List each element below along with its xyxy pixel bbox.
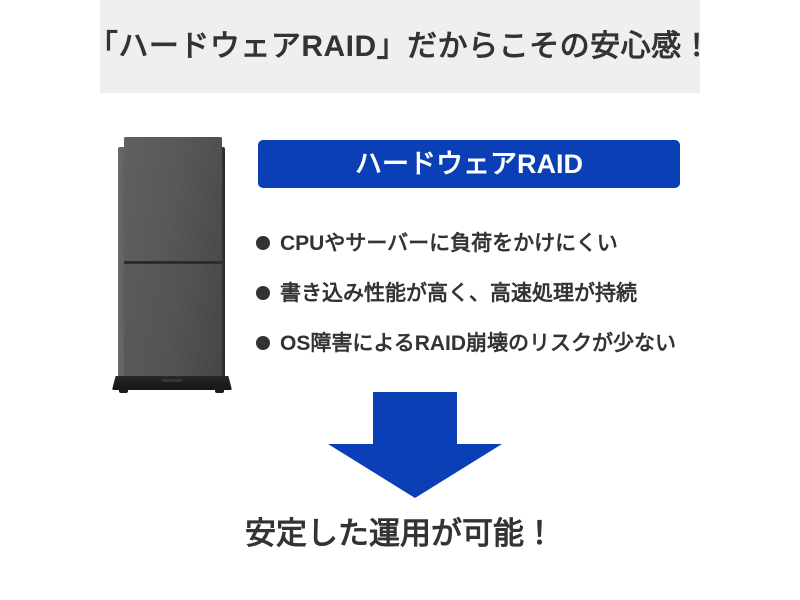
feature-list-item-label: CPUやサーバーに負荷をかけにくい: [280, 233, 618, 254]
tower-body: [124, 137, 222, 381]
hardware-raid-banner-label: ハードウェアRAID: [355, 151, 583, 178]
feature-list-item: CPUやサーバーに負荷をかけにくい: [256, 218, 696, 268]
bullet-dot-icon: [256, 286, 270, 300]
page-title: 「ハードウェアRAID」だからこその安心感！: [88, 32, 712, 62]
poster-root: 「ハードウェアRAID」だからこその安心感！ ハードウェアRAID CPUやサー…: [0, 0, 800, 600]
feature-list-item-label: 書き込み性能が高く、高速処理が持続: [280, 283, 637, 304]
arrow-down-icon: [328, 392, 502, 498]
feature-list-item-label: OS障害によるRAID崩壊のリスクが少ない: [280, 333, 676, 354]
feature-list-item: 書き込み性能が高く、高速処理が持続: [256, 268, 696, 318]
tower-foot-right: [215, 388, 224, 393]
hardware-raid-banner: ハードウェアRAID: [258, 140, 680, 188]
feature-list: CPUやサーバーに負荷をかけにくい 書き込み性能が高く、高速処理が持続 OS障害…: [256, 218, 696, 368]
tower-panel-seam: [124, 261, 222, 263]
conclusion-text: 安定した運用が可能！: [0, 518, 800, 549]
tower-upper-panel: [124, 137, 222, 262]
bullet-dot-icon: [256, 236, 270, 250]
bullet-dot-icon: [256, 336, 270, 350]
header-band: 「ハードウェアRAID」だからこその安心感！: [100, 0, 700, 93]
tower-lower-panel: [124, 263, 222, 381]
tower-base-notch: [162, 379, 182, 382]
server-tower-illustration: [112, 133, 232, 395]
tower-foot-left: [119, 388, 128, 393]
feature-list-item: OS障害によるRAID崩壊のリスクが少ない: [256, 318, 696, 368]
